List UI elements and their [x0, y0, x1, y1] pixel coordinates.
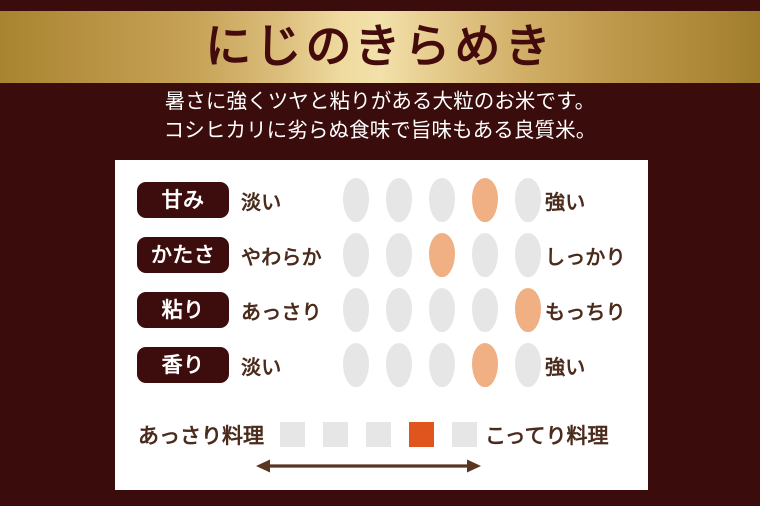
rice-grain-icon [429, 343, 455, 387]
attribute-badge-aroma: 香り [137, 347, 229, 383]
description-line-2: コシヒカリに劣らぬ食味で旨味もある良質米。 [0, 116, 760, 145]
scale-square [366, 422, 391, 447]
rice-grain-icon-active [429, 233, 455, 277]
attribute-row-aroma: 香り 淡い 強い [115, 347, 648, 393]
scale-low-label-hardness: やわらか [241, 237, 322, 273]
product-title: にじのきらめき [205, 23, 555, 72]
attribute-badge-stickiness: 粘り [137, 292, 229, 328]
attribute-row-stickiness: 粘り あっさり もっちり [115, 292, 648, 338]
scale-square [280, 422, 305, 447]
gold-banner: にじのきらめき [0, 11, 760, 83]
rice-grain-icon [343, 178, 369, 222]
rice-grain-icon [429, 178, 455, 222]
scale-square-active [409, 422, 434, 447]
rice-grain-icon [429, 288, 455, 332]
dish-pairing-low-label: あっさり料理 [138, 420, 264, 450]
rice-grain-icon [472, 288, 498, 332]
rice-grain-icon [515, 343, 541, 387]
rice-grain-icon-active [515, 288, 541, 332]
dish-pairing-row: あっさり料理 こってり料理 [115, 420, 648, 480]
scale-square [323, 422, 348, 447]
rice-grain-icon [386, 233, 412, 277]
description-line-1: 暑さに強くツヤと粘りがある大粒のお米です。 [0, 87, 760, 116]
taste-chart-panel: 甘み 淡い 強い かたさ やわらか しっかり [115, 160, 648, 490]
rice-grain-icon [472, 233, 498, 277]
grain-scale-hardness [343, 233, 539, 279]
dish-pairing-scale [280, 422, 480, 450]
rice-grain-icon [343, 288, 369, 332]
rice-grain-icon-active [472, 178, 498, 222]
scale-square [452, 422, 477, 447]
rice-grain-icon [343, 343, 369, 387]
attribute-badge-hardness: かたさ [137, 237, 229, 273]
rice-grain-icon [515, 233, 541, 277]
scale-high-label-sweetness: 強い [545, 182, 585, 218]
grain-scale-stickiness [343, 288, 539, 334]
rice-grain-icon [386, 343, 412, 387]
scale-low-label-aroma: 淡い [241, 347, 281, 383]
rice-grain-icon [343, 233, 369, 277]
product-description: 暑さに強くツヤと粘りがある大粒のお米です。 コシヒカリに劣らぬ食味で旨味もある良… [0, 87, 760, 145]
scale-high-label-hardness: しっかり [545, 237, 626, 273]
rice-product-card: にじのきらめき 暑さに強くツヤと粘りがある大粒のお米です。 コシヒカリに劣らぬ食… [0, 0, 760, 506]
grain-scale-sweetness [343, 178, 539, 224]
scale-high-label-aroma: 強い [545, 347, 585, 383]
double-headed-arrow-icon [256, 458, 481, 474]
rice-grain-icon [515, 178, 541, 222]
grain-scale-aroma [343, 343, 539, 389]
rice-grain-icon-active [472, 343, 498, 387]
scale-high-label-stickiness: もっちり [545, 292, 626, 328]
attribute-row-sweetness: 甘み 淡い 強い [115, 182, 648, 228]
attribute-badge-sweetness: 甘み [137, 182, 229, 218]
attribute-row-hardness: かたさ やわらか しっかり [115, 237, 648, 283]
rice-grain-icon [386, 178, 412, 222]
rice-grain-icon [386, 288, 412, 332]
top-strip [0, 0, 760, 11]
scale-low-label-stickiness: あっさり [241, 292, 322, 328]
dish-pairing-high-label: こってり料理 [485, 420, 608, 450]
scale-low-label-sweetness: 淡い [241, 182, 281, 218]
